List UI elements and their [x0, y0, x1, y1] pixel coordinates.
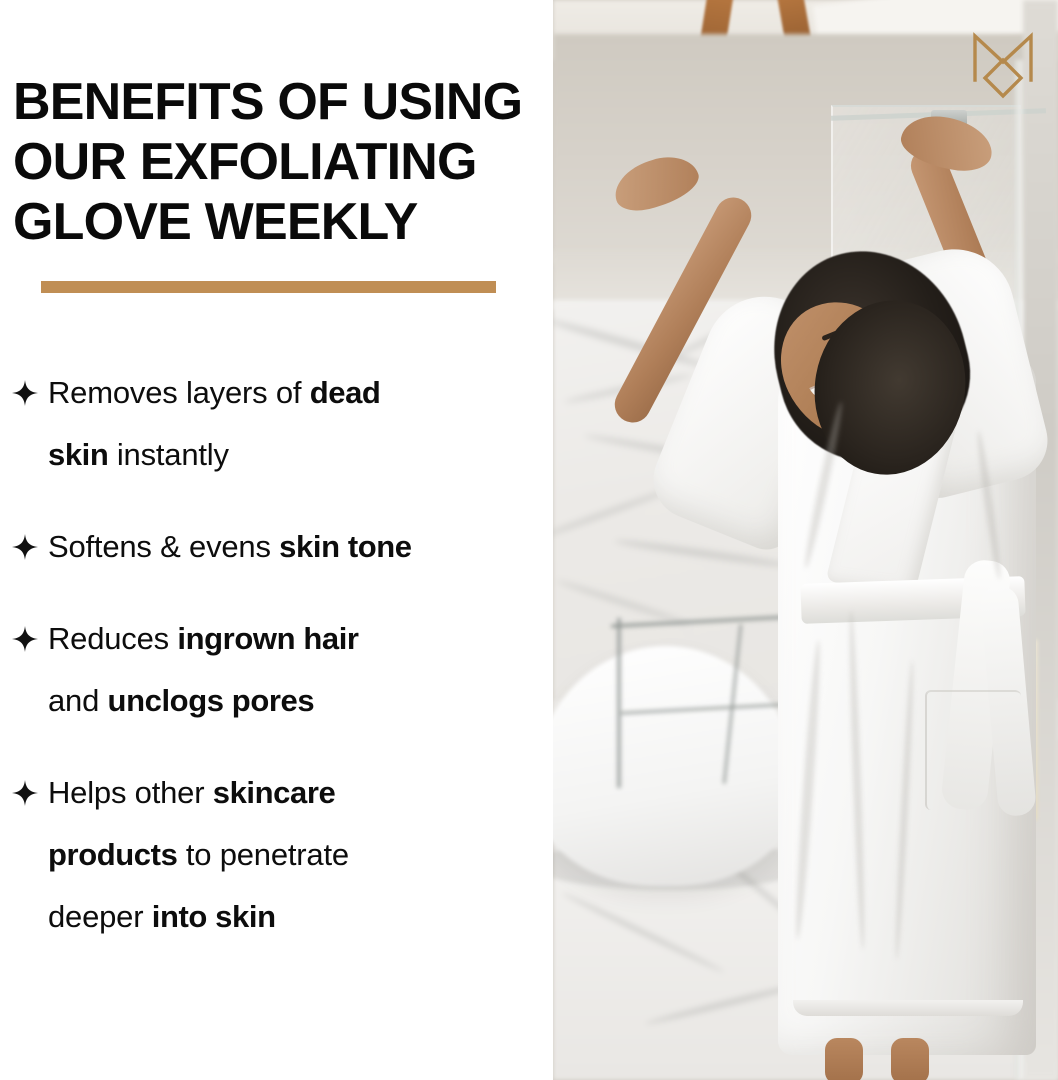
woman-figure — [553, 0, 1058, 1080]
benefit-text: Helps other skincare — [48, 762, 335, 824]
sparkle-icon — [12, 762, 48, 824]
list-item: Reduces ingrown hair and unclogs pores — [0, 608, 553, 732]
benefit-line: and unclogs pores — [12, 670, 553, 732]
benefit-line: Softens & evens skin tone — [12, 516, 553, 578]
list-item: Removes layers of dead skin instantly — [0, 362, 553, 486]
benefit-text: deeper into skin — [48, 886, 276, 948]
robe-hem — [793, 1000, 1023, 1016]
benefit-text: and unclogs pores — [48, 670, 314, 732]
page-title: BENEFITS OF USING OUR EXFOLIATING GLOVE … — [13, 72, 553, 252]
infographic-canvas: BENEFITS OF USING OUR EXFOLIATING GLOVE … — [0, 0, 1058, 1080]
benefit-text: Removes layers of dead — [48, 362, 380, 424]
sparkle-icon — [12, 516, 48, 578]
content-panel: BENEFITS OF USING OUR EXFOLIATING GLOVE … — [0, 0, 553, 1080]
benefit-line: Helps other skincare — [12, 762, 553, 824]
benefit-line: products to penetrate — [12, 824, 553, 886]
benefit-text: Reduces ingrown hair — [48, 608, 359, 670]
sparkle-spacer — [12, 424, 48, 486]
headline-line-2: OUR EXFOLIATING — [13, 132, 553, 192]
brand-monogram-logo — [969, 22, 1037, 100]
sparkle-spacer — [12, 886, 48, 948]
headline-line-1: BENEFITS OF USING — [13, 72, 553, 132]
sparkle-icon — [12, 608, 48, 670]
benefits-list: Removes layers of dead skin instantly So… — [0, 362, 553, 948]
sparkle-spacer — [12, 670, 48, 732]
sparkle-spacer — [12, 824, 48, 886]
headline-line-3: GLOVE WEEKLY — [13, 192, 553, 252]
benefit-line: skin instantly — [12, 424, 553, 486]
benefit-line: Reduces ingrown hair — [12, 608, 553, 670]
leg — [891, 1038, 929, 1080]
left-hand — [608, 148, 704, 218]
benefit-line: deeper into skin — [12, 886, 553, 948]
list-item: Helps other skincare products to penetra… — [0, 762, 553, 948]
gold-divider-rule — [41, 281, 496, 293]
benefit-line: Removes layers of dead — [12, 362, 553, 424]
benefit-text: products to penetrate — [48, 824, 349, 886]
leg — [825, 1038, 863, 1080]
benefit-text: skin instantly — [48, 424, 229, 486]
benefit-text: Softens & evens skin tone — [48, 516, 412, 578]
robe-pocket — [925, 690, 1021, 810]
list-item: Softens & evens skin tone — [0, 516, 553, 578]
lifestyle-photo — [553, 0, 1058, 1080]
sparkle-icon — [12, 362, 48, 424]
